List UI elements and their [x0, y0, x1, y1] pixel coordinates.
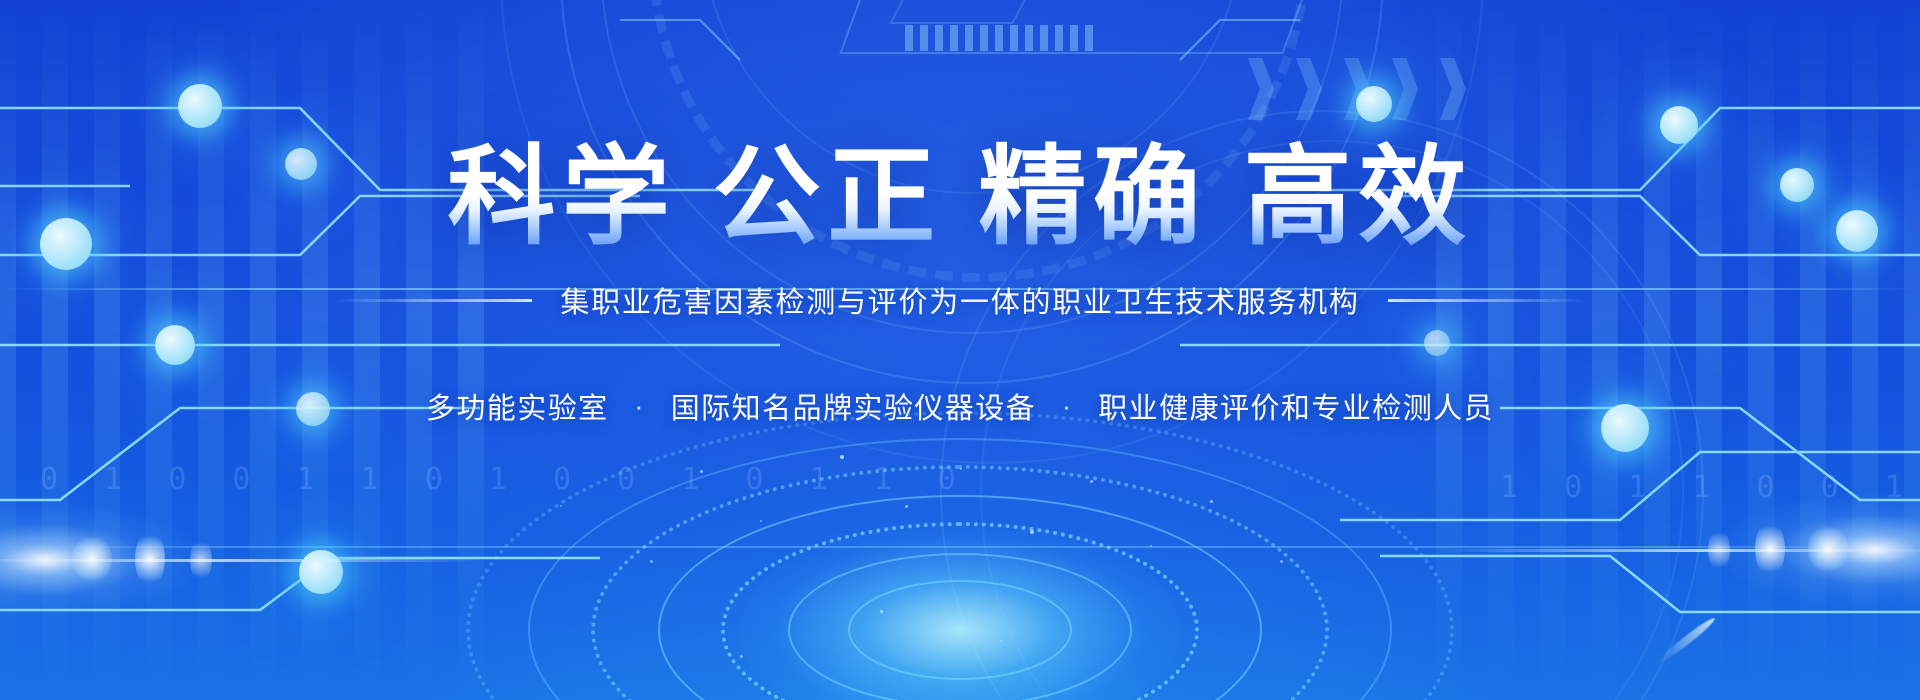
subtitle-rule-left [332, 299, 532, 302]
subtitle-rule-right [1388, 299, 1588, 302]
tagline-separator: · [635, 391, 645, 422]
banner-content: 科学 公正 精确 高效 集职业危害因素检测与评价为一体的职业卫生技术服务机构 多… [0, 0, 1920, 700]
tagline-item-1: 多功能实验室 [426, 385, 609, 427]
banner-subtitle: 集职业危害因素检测与评价为一体的职业卫生技术服务机构 [560, 279, 1359, 321]
banner-subtitle-row: 集职业危害因素检测与评价为一体的职业卫生技术服务机构 [332, 279, 1587, 321]
hero-banner: 0 1 0 0 1 1 0 1 0 0 1 0 1 1 0 1 0 1 1 0 … [0, 0, 1920, 700]
tagline-item-3: 职业健康评价和专业检测人员 [1098, 385, 1494, 427]
tagline-item-2: 国际知名品牌实验仪器设备 [671, 385, 1036, 427]
tagline-separator: · [1062, 391, 1072, 422]
banner-title: 科学 公正 精确 高效 [447, 140, 1472, 253]
banner-tagline-list: 多功能实验室 · 国际知名品牌实验仪器设备 · 职业健康评价和专业检测人员 [426, 385, 1494, 427]
